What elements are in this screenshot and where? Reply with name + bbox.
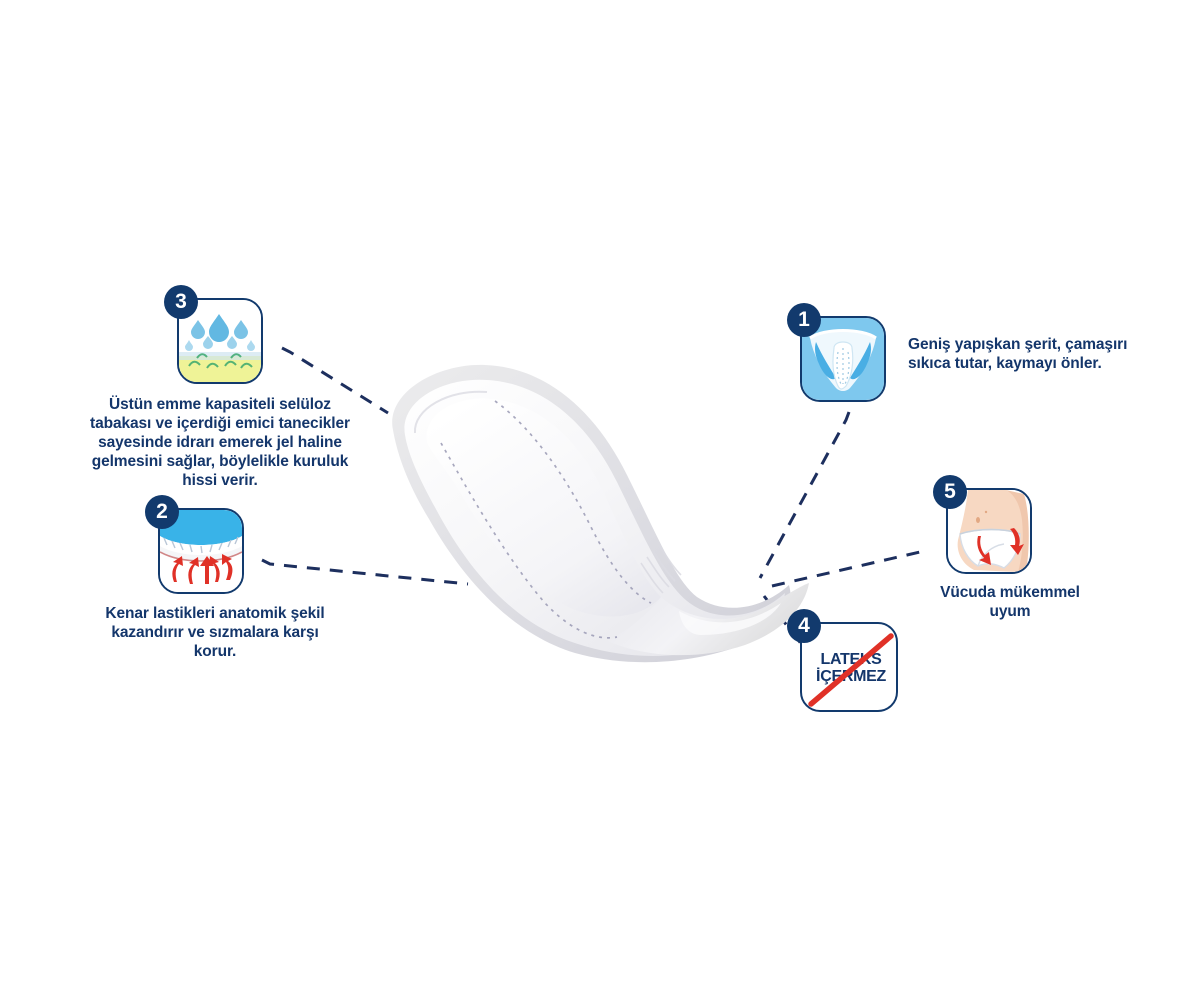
feature-1-caption: Geniş yapışkan şerit, çamaşırı sıkıca tu… — [908, 336, 1170, 374]
product-feature-infographic: 3 — [0, 0, 1200, 1000]
feature-5: 5 — [920, 488, 1100, 622]
feature-3-icon-wrap: 3 — [177, 298, 263, 384]
feature-4-number-badge: 4 — [787, 609, 821, 643]
feature-2-icon-wrap: 2 — [158, 508, 244, 594]
feature-5-number-badge: 5 — [933, 475, 967, 509]
feature-3: 3 — [90, 298, 350, 491]
feature-1-number-badge: 1 — [787, 303, 821, 337]
feature-1-icon-wrap: 1 — [800, 316, 886, 402]
feature-3-number-badge: 3 — [164, 285, 198, 319]
feature-2-number-badge: 2 — [145, 495, 179, 529]
feature-1: 1 — [800, 316, 1170, 402]
feature-2: 2 — [100, 508, 330, 662]
feature-5-icon-wrap: 5 — [946, 488, 1032, 574]
feature-3-caption: Üstün emme kapasiteli selüloz tabakası v… — [90, 396, 350, 491]
feature-5-caption: Vücuda mükemmel uyum — [920, 584, 1100, 622]
product-image — [345, 335, 815, 690]
pad-illustration — [345, 335, 815, 690]
feature-4: 4 LATEKS İÇERMEZ — [800, 622, 910, 712]
feature-4-icon-wrap: 4 LATEKS İÇERMEZ — [800, 622, 898, 712]
feature-2-caption: Kenar lastikleri anatomik şekil kazandır… — [100, 605, 330, 662]
